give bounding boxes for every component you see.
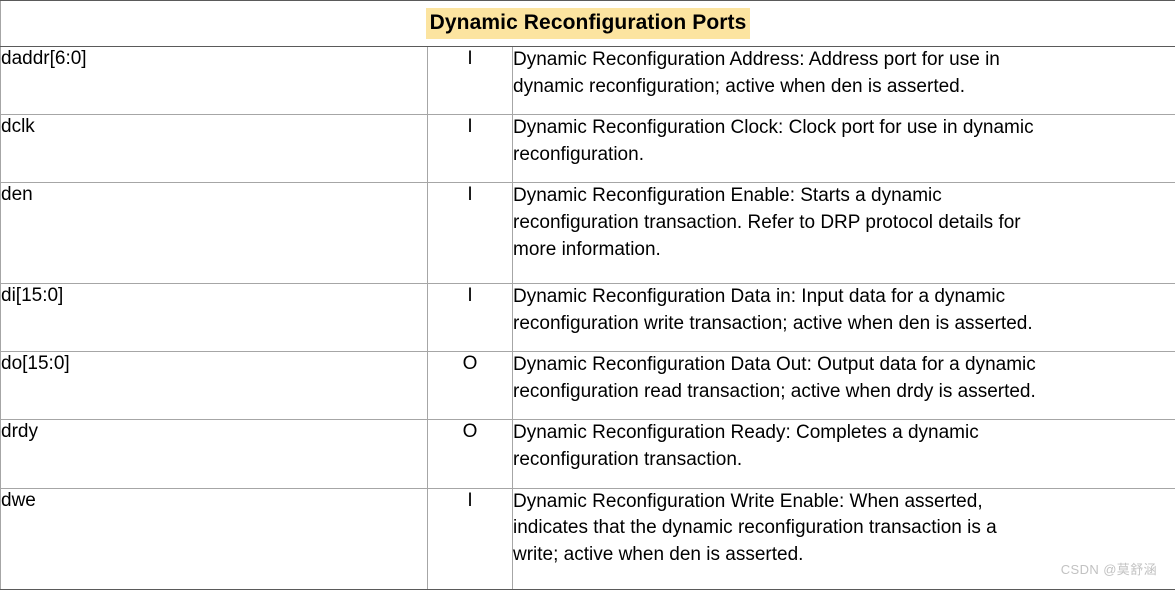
description-line: reconfiguration transaction. Refer to DR… [513,210,1175,237]
port-name-cell: do[15:0] [1,352,428,420]
description-line: indicates that the dynamic reconfigurati… [513,515,1175,542]
description-line: Dynamic Reconfiguration Enable: Starts a… [513,183,1175,210]
table-row: do[15:0] O Dynamic Reconfiguration Data … [1,352,1175,420]
port-direction-cell: O [428,420,513,488]
description-line: Dynamic Reconfiguration Data Out: Output… [513,352,1175,379]
port-direction-cell: I [428,47,513,115]
description-line: Dynamic Reconfiguration Address: Address… [513,47,1175,74]
table-body: Dynamic Reconfiguration Ports daddr[6:0]… [1,1,1175,590]
description-line: Dynamic Reconfiguration Write Enable: Wh… [513,489,1175,516]
description-line: reconfiguration write transaction; activ… [513,311,1175,338]
description-line: Dynamic Reconfiguration Ready: Completes… [513,420,1175,447]
port-direction-cell: I [428,488,513,590]
port-description-cell: Dynamic Reconfiguration Data Out: Output… [513,352,1175,420]
description-line: Dynamic Reconfiguration Data in: Input d… [513,284,1175,311]
port-description-cell: Dynamic Reconfiguration Address: Address… [513,47,1175,115]
port-name-cell: daddr[6:0] [1,47,428,115]
table-row: daddr[6:0] I Dynamic Reconfiguration Add… [1,47,1175,115]
port-description-cell: Dynamic Reconfiguration Enable: Starts a… [513,183,1175,284]
ports-table: Dynamic Reconfiguration Ports daddr[6:0]… [0,0,1175,590]
description-line: write; active when den is asserted. [513,542,1175,569]
port-name-cell: dwe [1,488,428,590]
description-line: reconfiguration. [513,142,1175,169]
description-line: more information. [513,237,1175,264]
port-direction-cell: I [428,183,513,284]
port-description-cell: Dynamic Reconfiguration Data in: Input d… [513,284,1175,352]
port-name-cell: drdy [1,420,428,488]
port-name-cell: di[15:0] [1,284,428,352]
table-row: den I Dynamic Reconfiguration Enable: St… [1,183,1175,284]
description-line: Dynamic Reconfiguration Clock: Clock por… [513,115,1175,142]
table-row: dclk I Dynamic Reconfiguration Clock: Cl… [1,115,1175,183]
port-direction-cell: O [428,352,513,420]
dynamic-reconfiguration-ports-table-container: Dynamic Reconfiguration Ports daddr[6:0]… [0,0,1175,590]
port-name-cell: dclk [1,115,428,183]
description-line: reconfiguration transaction. [513,447,1175,474]
port-description-cell: Dynamic Reconfiguration Ready: Completes… [513,420,1175,488]
port-name-cell: den [1,183,428,284]
port-direction-cell: I [428,284,513,352]
table-row: drdy O Dynamic Reconfiguration Ready: Co… [1,420,1175,488]
table-title: Dynamic Reconfiguration Ports [426,8,751,39]
port-description-cell: Dynamic Reconfiguration Write Enable: Wh… [513,488,1175,590]
table-row: dwe I Dynamic Reconfiguration Write Enab… [1,488,1175,590]
port-description-cell: Dynamic Reconfiguration Clock: Clock por… [513,115,1175,183]
description-line: dynamic reconfiguration; active when den… [513,74,1175,101]
description-line: reconfiguration read transaction; active… [513,379,1175,406]
table-row: di[15:0] I Dynamic Reconfiguration Data … [1,284,1175,352]
table-title-row: Dynamic Reconfiguration Ports [1,1,1175,47]
port-direction-cell: I [428,115,513,183]
table-title-cell: Dynamic Reconfiguration Ports [1,1,1175,47]
